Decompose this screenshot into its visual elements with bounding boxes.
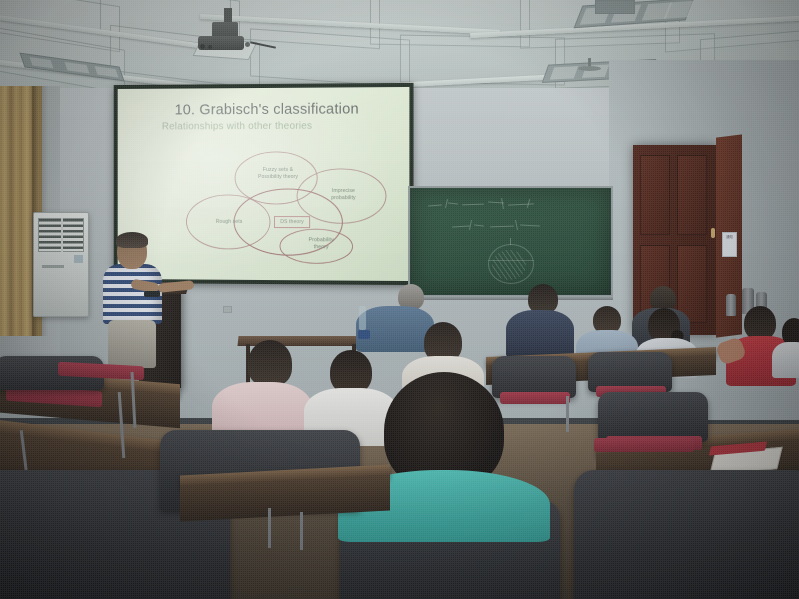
- venn-diagram-svg: [118, 133, 410, 281]
- audience-head: [744, 306, 776, 340]
- slide-subtitle: Relationships with other theories: [162, 121, 312, 133]
- audience-head: [248, 340, 292, 386]
- ceiling-light-panel: [595, 0, 635, 14]
- door-notice-sign: 通知: [722, 232, 737, 257]
- audience-body: [506, 310, 574, 358]
- projector-knob-icon: [208, 45, 212, 49]
- slide-surface: 10. Grabisch's classification Relationsh…: [118, 87, 410, 281]
- audience-body: [772, 342, 799, 378]
- venn-label-probability-theory: Probability theory: [299, 237, 343, 251]
- blue-item: [358, 330, 370, 339]
- presenter-trousers: [108, 320, 156, 368]
- seat-leg: [300, 512, 303, 550]
- seat[interactable]: [574, 470, 799, 599]
- ac-display-panel: [74, 255, 83, 263]
- ceiling-fan-icon: [578, 66, 601, 71]
- presenter-hair: [116, 232, 148, 248]
- venn-diagram: Fuzzy sets & Possibility theory Imprecis…: [118, 133, 410, 281]
- venn-label-fuzzy-sets: Fuzzy sets & Possibility theory: [248, 167, 308, 181]
- projector-lens-housing: [198, 36, 244, 50]
- seat-cushion: [594, 438, 694, 452]
- chalkboard: [408, 186, 613, 298]
- venn-label-ds-theory: DS theory: [274, 216, 310, 228]
- seat-cushion: [500, 392, 570, 404]
- door[interactable]: [633, 145, 717, 335]
- seat[interactable]: [598, 392, 708, 442]
- projector-knob-icon: [200, 44, 205, 49]
- presentation-clicker[interactable]: [144, 291, 160, 297]
- projection-screen: 10. Grabisch's classification Relationsh…: [114, 83, 414, 285]
- seat-leg: [566, 396, 569, 432]
- water-bottle[interactable]: [359, 306, 366, 330]
- wall-socket-icon: [223, 306, 232, 313]
- chalkboard-tray: [408, 296, 613, 300]
- slide-title: 10. Grabisch's classification: [175, 101, 359, 118]
- ac-vent-divider: [61, 218, 63, 252]
- ac-brand-logo: [42, 265, 64, 268]
- venn-label-imprecise-probability: Imprecise probability: [318, 188, 369, 202]
- lecture-hall-photo: 10. Grabisch's classification Relationsh…: [0, 0, 799, 599]
- seat-leg: [268, 508, 271, 548]
- venn-label-rough-sets: Rough sets: [204, 219, 254, 226]
- thermos-flask: [726, 294, 736, 316]
- audience-body: [356, 306, 434, 352]
- door-handle-icon[interactable]: [711, 228, 715, 238]
- air-conditioner[interactable]: [33, 212, 89, 317]
